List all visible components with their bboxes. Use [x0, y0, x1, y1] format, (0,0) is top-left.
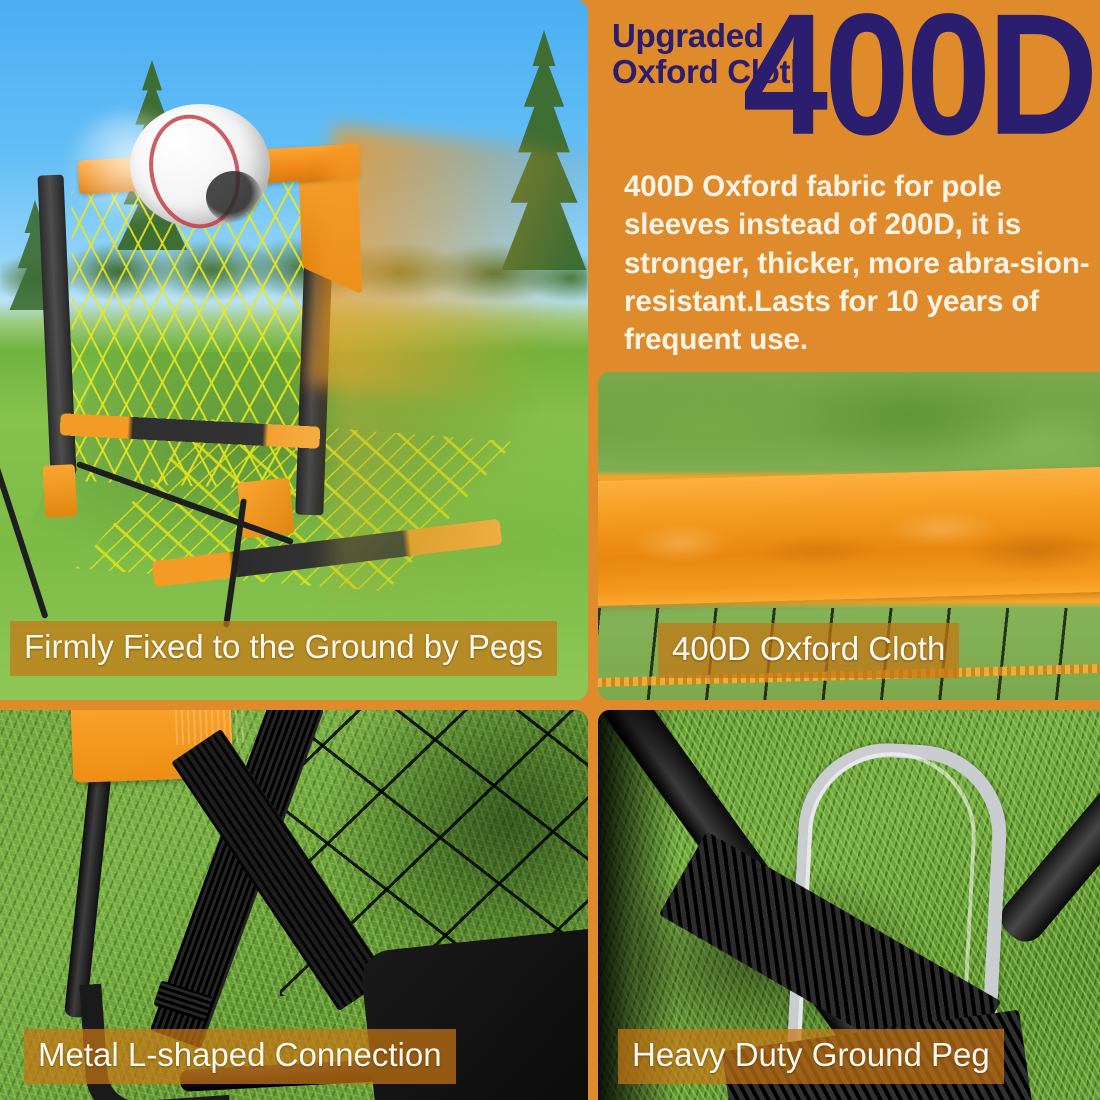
header-body-copy: 400D Oxford fabric for pole sleeves inst…	[624, 168, 1090, 360]
caption-400d-oxford-cloth: 400D Oxford Cloth	[658, 623, 959, 678]
soccer-ball-icon	[130, 104, 270, 228]
panel-goal-on-field: Firmly Fixed to the Ground by Pegs	[0, 0, 588, 700]
caption-heavy-duty-ground-peg: Heavy Duty Ground Peg	[618, 1029, 1004, 1084]
header-text-block: Upgraded Oxford Cloth 400D 400D Oxford f…	[598, 0, 1100, 372]
motion-blur-streak-lower	[330, 300, 588, 600]
panel-metal-l-shaped-connection: Metal L-shaped Connection	[0, 710, 588, 1100]
blurred-grass-background	[598, 372, 1100, 484]
panel-heavy-duty-ground-peg: Heavy Duty Ground Peg	[598, 710, 1100, 1100]
header-big-dimension: 400D	[742, 0, 1094, 161]
goal-post-left-foot	[43, 464, 78, 518]
product-feature-infographic: Firmly Fixed to the Ground by Pegs 400D …	[0, 0, 1100, 1100]
caption-metal-l-shaped-connection: Metal L-shaped Connection	[24, 1029, 456, 1084]
orange-oxford-sleeve	[598, 466, 1100, 605]
fabric-wrinkles	[598, 466, 1100, 605]
panel-oxford-cloth-closeup: 400D Oxford Cloth	[598, 372, 1100, 700]
caption-firmly-fixed: Firmly Fixed to the Ground by Pegs	[10, 621, 557, 676]
